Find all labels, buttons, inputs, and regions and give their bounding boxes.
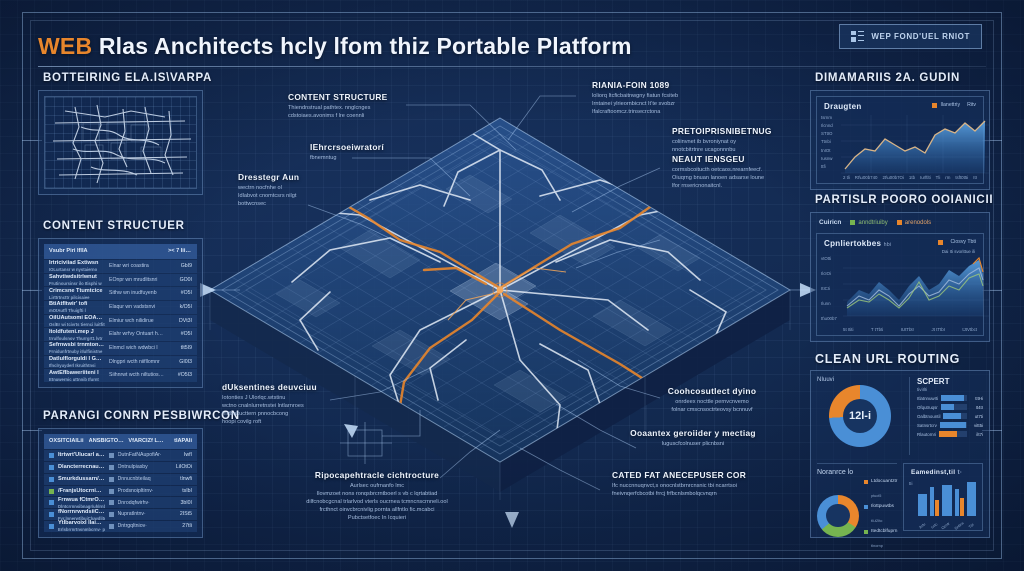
annotation-cated-fat: CATED FAT ANECEPUSER COR Ifc nuccnnuqnvc… <box>612 470 746 498</box>
row-description: Elnar wri coastira <box>109 263 164 270</box>
bar-label: Ofqutruqsr <box>917 405 938 410</box>
chart-bar <box>942 485 951 516</box>
chip-icon <box>109 489 114 494</box>
panel-map-heading: BOTTEIRING ELA.IS\VARPA <box>41 72 212 89</box>
row-value: tsIbI <box>168 488 192 495</box>
bar-group <box>955 482 964 516</box>
partials-legend-row: Cuiricn anndtriuiby arenodols <box>819 219 931 226</box>
bar-label: Itlatnnuwrti <box>917 396 938 401</box>
table-row[interactable]: SahvtiwdsitrlwnutFrutinoursinsr ilo Itis… <box>44 274 197 287</box>
annotation-component-rendered: IEhrcrsoeiwratorí fbnemntug <box>310 142 384 162</box>
routing-main-donut-block: NIuuvi 12l-i <box>817 377 903 455</box>
bar-group <box>930 482 939 516</box>
legend-label: Ltdocuantztr <box>871 479 897 484</box>
partials-sub-left: Cuiricn <box>819 219 841 226</box>
legend-item: Ltdocuantztrptuct5 <box>864 479 897 502</box>
routing-bar-chart-card[interactable]: Eamedinst,til t· tIi ArfuIvrlcOcntrSntlr… <box>903 463 983 531</box>
routing-bar-chart-title: Eamedinst,til <box>911 469 955 476</box>
row-permission: Dnrodqfwirhv· <box>118 500 165 507</box>
table-header-cell: Vsubr Piri IflIA <box>49 248 164 255</box>
annotation-desc: Iotonties J Ulorlqc.wtstinu wctno cnalnl… <box>222 394 317 426</box>
row-label: BtiAtfltwir’ tofi <box>49 301 87 307</box>
row-label: AwtEfIbaweriiteni I <box>49 370 99 376</box>
dimensions-chart-title: Draugten <box>824 102 862 111</box>
bar-label: Satnsrtcrv <box>917 423 937 428</box>
routing-small-donut-block: Noranrce lo Ltdocuantztrptuct5Ilottpuwtb… <box>817 463 897 531</box>
header-badge[interactable]: WEP FOND'UEL RNIOT <box>839 24 982 49</box>
annotation-coohcosutlect: Coohcosutlect dyino onrdeex nocttle pern… <box>632 386 792 414</box>
bar-value: ilt7i <box>970 432 983 437</box>
bar-value: vitt5i <box>970 423 983 428</box>
panel-content-structure: CONTENT STRUCTUER Vsubr Piri IflIA>< 7 I… <box>38 238 203 388</box>
bar-row[interactable]: Satnsrtcrvvitt5i <box>917 422 983 428</box>
legend-item: arenodols <box>897 220 931 226</box>
legend-swatch <box>938 240 943 245</box>
routing-bar-chart-plot <box>918 482 976 516</box>
row-label: Crimcsne Ttumtcice <box>49 288 102 294</box>
legend-item: anndtriuiby <box>850 220 887 226</box>
legend-label: anndtriuiby <box>858 220 887 226</box>
annotation-title: Coohcosutlect dyino <box>632 386 792 396</box>
partials-chart-title-suffix: hbi <box>884 242 892 248</box>
row-label: Itoldfuteni.mep J <box>49 329 94 335</box>
annotation-duksentines: dUksentines deuvciuu Iotonties J Ulorlqc… <box>222 382 317 426</box>
annotation-title: Dresstegr Aun <box>238 172 299 182</box>
bar-value: tItHi <box>970 396 983 401</box>
legend-swatch <box>932 103 937 108</box>
panel-clean-url-routing: CLEAN URL ROUTING NIuuvi 12l-i SCPERT ti… <box>810 370 990 538</box>
legend-swatch <box>864 505 868 509</box>
row-label: YtIbarvoixI Ilaiwtpr <box>58 520 105 526</box>
cube-icon <box>109 500 114 505</box>
legend-item: ItedtcblfuprntInornp <box>864 529 897 552</box>
bar-group <box>967 482 976 516</box>
row-value: IwfI <box>168 452 192 459</box>
table-row[interactable]: Irtriciviiad ExtiwsnIOLurtansr w nystaie… <box>44 260 197 273</box>
bar-label: Oalbtnountil <box>917 414 940 419</box>
table-header-cell: ANSBIGTOSPfnbi <box>89 438 125 445</box>
annotation-desc: cormsbcoitucth oetcaos.nrearnfeecf. Oiuq… <box>672 166 764 190</box>
row-value: k/O5I <box>168 304 192 311</box>
panel-permissions-heading: PARANGI CONRN PESBIWRCON <box>41 410 240 427</box>
bar-row[interactable]: Oalbtnountilut7ti <box>917 413 983 419</box>
annotation-desc: loliorq Itcficbaitnwgny fiatun fcsiteb I… <box>592 92 678 116</box>
annotation-title: CONTENT STRUCTURE <box>288 92 388 102</box>
table-row[interactable]: BtiAtfltwir’ tofimOtAutfl Thuigfti lElaq… <box>44 301 197 314</box>
dimensions-y-axis: tsrnmIlcnndSTtIOTtnbitnIOtIusnwttfi <box>821 115 833 169</box>
bar-track <box>943 413 967 419</box>
table-row[interactable]: Frnwua fCtmrOlwrDlntcrrnnsibnagr/uhlrnbo… <box>44 497 197 508</box>
routing-bars-panel: SCPERT tiviIlIi ItlatnnuwrtitItHiOfqutru… <box>909 377 983 455</box>
table-row[interactable]: Itoldfuteni.mep Jtrrulfoulsnov Thurrgrt1… <box>44 328 197 341</box>
table-header-cell: OXSITCIAlLii <box>49 438 85 445</box>
row-value: 2ISt5 <box>168 511 192 518</box>
row-value: tlt5I9 <box>168 345 192 352</box>
legend-label: arenodols <box>905 220 931 226</box>
bar-track <box>940 422 967 428</box>
annotation-ooaantex: Ooaantex geroiider y mectiag luguscfcoln… <box>608 428 778 448</box>
dimensions-area-chart-card[interactable]: Draugten Ilanettriy Ritv tsrnmIlcnndSTtI… <box>816 96 984 184</box>
dimensions-area-chart <box>841 115 989 177</box>
row-sublabel: mOtAutfl Thuigfti l <box>49 308 105 313</box>
header-divider <box>38 66 986 67</box>
row-value: #O5I <box>168 290 192 297</box>
partials-chart-title: Cpnliertokbes hbi <box>824 239 891 248</box>
annotation-ripocapehtracle: Ripocapehtracle cichtrocture Aurlsec ouf… <box>262 470 492 523</box>
chart-x-tick: Ivrlc <box>929 522 938 531</box>
table-row[interactable]: DlancterrecnaucgeirdcoOntnulpiasbyLiIOtO… <box>44 462 197 473</box>
chart-bar <box>960 498 964 516</box>
chart-bar <box>955 489 959 516</box>
legend-swatch <box>864 530 868 534</box>
chart-bar <box>935 500 939 516</box>
annotation-desc: wectrn nocfnhe ol Idlabvot cnomtcsrs nil… <box>238 184 299 208</box>
legend-label: Itedtcblfuprn <box>871 529 897 534</box>
annotation-desc: Aurlsec oufrnanfo lmc Ilovmzoet nons ron… <box>262 482 492 523</box>
row-value: 27tIi <box>168 523 192 530</box>
blue-status-dot <box>49 524 54 529</box>
row-sublabel: Erlsbrrnrtnsnmbcrnv· pirnrni Irlihsnlig <box>58 527 105 532</box>
routing-bar-chart-ylabel: tIi <box>909 481 912 486</box>
row-value: LiIOtOi <box>168 464 192 471</box>
table-header-cell: VfARCIZf LOEtI <box>128 438 164 445</box>
row-value: GO0I <box>168 277 192 284</box>
table-header-row: Vsubr Piri IflIA>< 7 Iiine it: tini <box>44 244 197 259</box>
table-header-row: OXSITCIAlLiiANSBIGTOSPfnbiVfARCIZf LOEtI… <box>44 434 197 449</box>
annotation-desc: onrdeex nocttle pernvcnvemo folnar cmscn… <box>632 398 792 414</box>
routing-small-donut-legend: Ltdocuantztrptuct5Ilottpuwtbstli-t2ItoIt… <box>864 479 897 552</box>
annotation-riania-foin: RIANIA-FOIN 1089 loliorq Itcficbaitnwgny… <box>592 80 678 116</box>
permissions-table[interactable]: OXSITCIAlLiiANSBIGTOSPfnbiVfARCIZf LOEtI… <box>44 434 197 532</box>
legend-label: Ilanettriy <box>940 102 960 108</box>
chart-x-tick: Tbi <box>967 522 976 531</box>
row-description: Elmiur wch nilidirue <box>109 318 164 325</box>
partials-chart-note: Dai Iti svorittue ili <box>942 249 975 254</box>
routing-bar-list[interactable]: ItlatnnuwrtitItHiOfqutruqsrIt4tIOalbtnou… <box>917 395 983 437</box>
table-header-cell: tIAPAIi <box>168 438 192 445</box>
map-grid <box>45 97 196 188</box>
row-description: Siihnrwt wcth niltutiosnvt <box>109 372 164 379</box>
partials-y-axis: vtOttiIlcIOiItICIiIlunntt\u00b7 <box>821 256 837 321</box>
table-row[interactable]: fNorrnrwndsiiCtuwlitnvcnFyr.lnnerwtibuiC… <box>44 509 197 520</box>
legend-swatch <box>864 480 868 484</box>
map-viewport[interactable] <box>44 96 197 189</box>
row-permission: Ontnulpiasby <box>118 464 165 471</box>
partials-chart-title-text: Cpnliertokbes <box>824 239 881 248</box>
blue-status-dot <box>49 477 54 482</box>
row-sublabel: IOLurtansr w nystaierno <box>49 267 105 272</box>
bar-value: It4tI <box>970 405 983 410</box>
table-row[interactable]: Datlulflorguldi l GAV13Ifnclryuyderl Ikr… <box>44 356 197 369</box>
row-permission: Dnnucnbteilaq <box>118 476 165 483</box>
dimensions-x-axis: 2 tliRt\u00b7402t\u00b7Oi1tbIurftltiTlir… <box>843 175 977 180</box>
legend-label: Ciosvy Tbti <box>950 239 976 245</box>
bar-value: ut7ti <box>970 414 983 419</box>
panel-routing-heading: CLEAN URL ROUTING <box>813 352 960 371</box>
annotation-title: PRETOIPRISNIBETNUG <box>672 126 772 136</box>
legend-label: Ilottpuwtbs <box>871 504 894 509</box>
row-description: Elahr wrfvy Ontuart hb wtsuiur <box>109 331 164 338</box>
row-permission: Dntrgqltniov· <box>118 523 165 530</box>
panel-permissions: PARANGI CONRN PESBIWRCON OXSITCIAlLiiANS… <box>38 428 203 538</box>
row-sublabel: trrulfoulsnov Thurrgrt1 lvtr <box>49 336 105 341</box>
table-row[interactable]: OilUAutsomi EOAC– IOslEr wi tcivrts tier… <box>44 315 197 328</box>
row-sublabel: OslEr wi tcivrts tiernci luitfitreni <box>49 322 105 327</box>
table-row[interactable]: Crimcsne TtumtciceLirttrtncttr pilcisaie… <box>44 287 197 300</box>
routing-bars-title: SCPERT <box>917 377 983 386</box>
link-icon <box>109 477 114 482</box>
chart-bar <box>918 494 927 516</box>
table-row[interactable]: Itrtwrt'Ulucarl anrtcrcroupOutnFatNAupof… <box>44 450 197 461</box>
chart-bar <box>967 482 976 516</box>
bar-row[interactable]: OfqutruqsrIt4tI <box>917 404 983 410</box>
routing-small-donut[interactable] <box>817 495 859 537</box>
blueprint-canvas: WEB Rlas Anchitects hcly lfom thiz Porta… <box>0 0 1024 571</box>
legend-swatch <box>897 220 902 225</box>
gear-icon <box>109 524 114 529</box>
partials-x-axis: 5t ItitiT tTbtiIUtTbtrJt tTtbItJtVtbct <box>843 327 977 332</box>
legend-label: Ritv <box>967 102 976 108</box>
row-sublabel: Frutinoursinsr ilo Itisphi w <box>49 281 105 286</box>
routing-donut-center-value: 12l-i <box>829 385 891 447</box>
legend-sublabel: tInornp <box>871 544 883 548</box>
grid-icon <box>851 31 864 42</box>
blue-status-dot <box>49 465 54 470</box>
row-value: #O5I <box>168 331 192 338</box>
table-row[interactable]: Sefrnwsbi trnmtonectFrnidunfrtnuby iIlul… <box>44 342 197 355</box>
blue-status-dot <box>49 500 54 505</box>
doc-icon <box>109 453 114 458</box>
page-title-accent: WEB <box>38 33 92 59</box>
row-sublabel: Ifnclryuyderl Ikruithtnsi <box>49 363 105 368</box>
bar-row[interactable]: ItlatnnuwrtitItHi <box>917 395 983 401</box>
row-value: GI0I3 <box>168 359 192 366</box>
annotation-content-structure: CONTENT STRUCTURE Thiendnstrual pathtex.… <box>288 92 388 120</box>
row-value: #O5I3 <box>168 372 192 379</box>
row-label: Irtriciviiad Extiwsn <box>49 260 98 266</box>
header-badge-label: WEP FOND'UEL RNIOT <box>871 32 970 41</box>
row-description: Dlngpri wcth niifllomnr <box>109 359 164 366</box>
table-row[interactable]: Smurkdussarn/ladsbdAtiDnnucnbteilaqtlnwf… <box>44 474 197 485</box>
annotation-desc: Thiendnstrual pathtex. nnglcnges cdstoia… <box>288 104 388 120</box>
blue-status-dot <box>49 453 54 458</box>
routing-main-donut[interactable]: 12l-i <box>829 385 891 447</box>
row-value: DVt3I <box>168 318 192 325</box>
row-description: Elnmcl wich wdwbci I <box>109 345 164 352</box>
annotation-title: dUksentines deuvciuu <box>222 382 317 392</box>
row-label: Sahvtiwdsitrlwnut <box>49 274 97 280</box>
hand-icon <box>109 512 114 517</box>
chart-bar <box>930 487 934 516</box>
row-description: Elaqur wn vadstsnvi <box>109 304 164 311</box>
legend-sublabel: tli-t2Ito <box>871 519 882 523</box>
partials-chart-legend: Ciosvy Tbti <box>938 239 976 245</box>
panel-partials-heading: PARTISLR POORO OOIANICII <box>813 194 993 211</box>
chart-x-tick: Arfu <box>918 522 927 531</box>
annotation-title: RIANIA-FOIN 1089 <box>592 80 678 90</box>
bar-track <box>941 404 967 410</box>
row-sublabel: Frnidunfrtnuby iIlulfinistne <box>49 349 105 354</box>
row-value: tlnwfi <box>168 476 192 483</box>
bar-fill <box>943 413 960 419</box>
bar-label: Rlautornri <box>917 432 936 437</box>
routing-bar-chart-x-axis: ArfuIvrlcOcntrSntlrwTbi <box>918 524 976 528</box>
row-label: Smurkdussarn/ladsbdAti <box>58 476 105 482</box>
annotation-title: Ripocapehtracle cichtrocture <box>262 470 492 480</box>
routing-small-donut-label: Noranrce lo <box>817 469 897 476</box>
table-header-cell: >< 7 Iiine it: tini <box>168 248 192 255</box>
row-label: Frnwua fCtmrOlwr <box>58 497 105 503</box>
legend-item: Ilanettriy <box>932 102 960 108</box>
legend-item: Ilottpuwtbstli-t2Ito <box>864 504 897 527</box>
legend-swatch <box>850 220 855 225</box>
bar-fill <box>940 422 966 428</box>
partials-area-chart <box>843 256 989 318</box>
row-label: Sefrnwsbi trnmtonect <box>49 342 105 348</box>
chart-x-tick: Sntlrw <box>954 521 965 531</box>
table-row[interactable]: /FranjsUtocrnicanarwaProdsnoipltirnv·tsI… <box>44 486 197 497</box>
row-permission: Prodsnoipltirnv· <box>118 488 165 495</box>
annotation-title: NEAUT IENSGEU <box>672 154 764 164</box>
row-permission: OutnFatNAupofiAr· <box>118 452 165 459</box>
legend-item: Ritv <box>967 102 976 108</box>
annotation-desc: coliinvnet ib bvroniynat oy nnotcbitrtnr… <box>672 138 772 154</box>
panel-partials: PARTISLR POORO OOIANICII Cuiricn anndtri… <box>810 212 990 342</box>
row-sublabel: Lirttrtncttr pilcisaiee <box>49 295 105 300</box>
bar-fill <box>941 395 964 401</box>
green-status-dot <box>49 489 54 494</box>
bar-fill <box>941 404 955 410</box>
row-value: GbI9 <box>168 263 192 270</box>
annotation-desc: Ifc nuccnnuqnvct,s onocnlstbrnrcnsnic tb… <box>612 482 746 498</box>
row-permission: Nupratlntnv· <box>118 511 165 518</box>
row-label: fNorrnrwndsiiCtuwlitnvcn <box>58 509 105 515</box>
annotation-title: Ooaantex geroiider y mectiag <box>608 428 778 438</box>
table-row[interactable]: AwtEfIbaweriiteni IEtnuwernic uttnnib If… <box>44 369 197 382</box>
branch-icon <box>109 465 114 470</box>
panel-dimensions-heading: DIMAMARIIS 2A. GUDIN <box>813 72 960 89</box>
routing-donut-label: NIuuvi <box>817 377 903 383</box>
routing-bar-chart-title-suffix: t· <box>957 469 962 476</box>
annotation-desc: luguscfcolnuser plicnbsni <box>608 440 778 448</box>
content-structure-table[interactable]: Vsubr Piri IflIA>< 7 Iiine it: tiniIrtri… <box>44 244 197 382</box>
row-label: Dlancterrecnaucgeirdco <box>58 464 105 470</box>
blue-status-dot <box>49 512 54 517</box>
row-label: OilUAutsomi EOAC– I <box>49 315 105 321</box>
annotation-pretoiprisnibetnug: PRETOIPRISNIBETNUG coliinvnet ib bvroniy… <box>672 126 772 154</box>
row-description: Sithw wn inudfuyenb <box>109 290 164 297</box>
bar-track <box>941 395 967 401</box>
annotation-neaut-iensgeu: NEAUT IENSGEU cormsbcoitucth oetcaos.nre… <box>672 154 764 190</box>
bar-row[interactable]: Rlautornriilt7i <box>917 431 983 437</box>
partials-area-chart-card[interactable]: Cpnliertokbes hbi Ciosvy Tbti Dai Iti sv… <box>816 233 984 336</box>
bar-fill <box>939 431 957 437</box>
table-row[interactable]: YtIbarvoixI IlaiwtprErlsbrrnrtnsnmbcrnv·… <box>44 521 197 532</box>
annotation-desc: fbnemntug <box>310 154 384 162</box>
row-description: EOnpr wn mrudlitsnri <box>109 277 164 284</box>
row-label: /FranjsUtocrnicanarwa <box>58 488 105 494</box>
panel-map: BOTTEIRING ELA.IS\VARPA <box>38 90 203 195</box>
page-title-rest: Rlas Anchitects hcly lfom thiz Portable … <box>92 33 631 59</box>
dimensions-chart-legend: Ilanettriy Ritv <box>932 102 976 108</box>
panel-dimensions: DIMAMARIIS 2A. GUDIN Draugten Ilanettriy… <box>810 90 990 190</box>
routing-bars-subtitle: tiviIlIi <box>917 387 983 392</box>
annotation-dresstegr-aun: Dresstegr Aun wectrn nocfnhe ol Idlabvot… <box>238 172 299 208</box>
bar-group <box>918 482 927 516</box>
chart-x-tick: Ocntr <box>941 522 951 531</box>
bar-group <box>942 482 951 516</box>
annotation-title: CATED FAT ANECEPUSER COR <box>612 470 746 480</box>
bar-track <box>939 431 967 437</box>
row-label: Itrtwrt'Ulucarl anrtcrcroup <box>58 452 105 458</box>
row-sublabel: Etnuwernic uttnnib Ifurnt <box>49 377 105 382</box>
panel-content-structure-heading: CONTENT STRUCTUER <box>41 220 185 237</box>
row-value: 3bI0I <box>168 500 192 507</box>
legend-sublabel: ptuct5 <box>871 494 881 498</box>
annotation-title: IEhrcrsoeiwratorí <box>310 142 384 152</box>
row-label: Datlulflorguldi l GAV13 <box>49 356 105 362</box>
